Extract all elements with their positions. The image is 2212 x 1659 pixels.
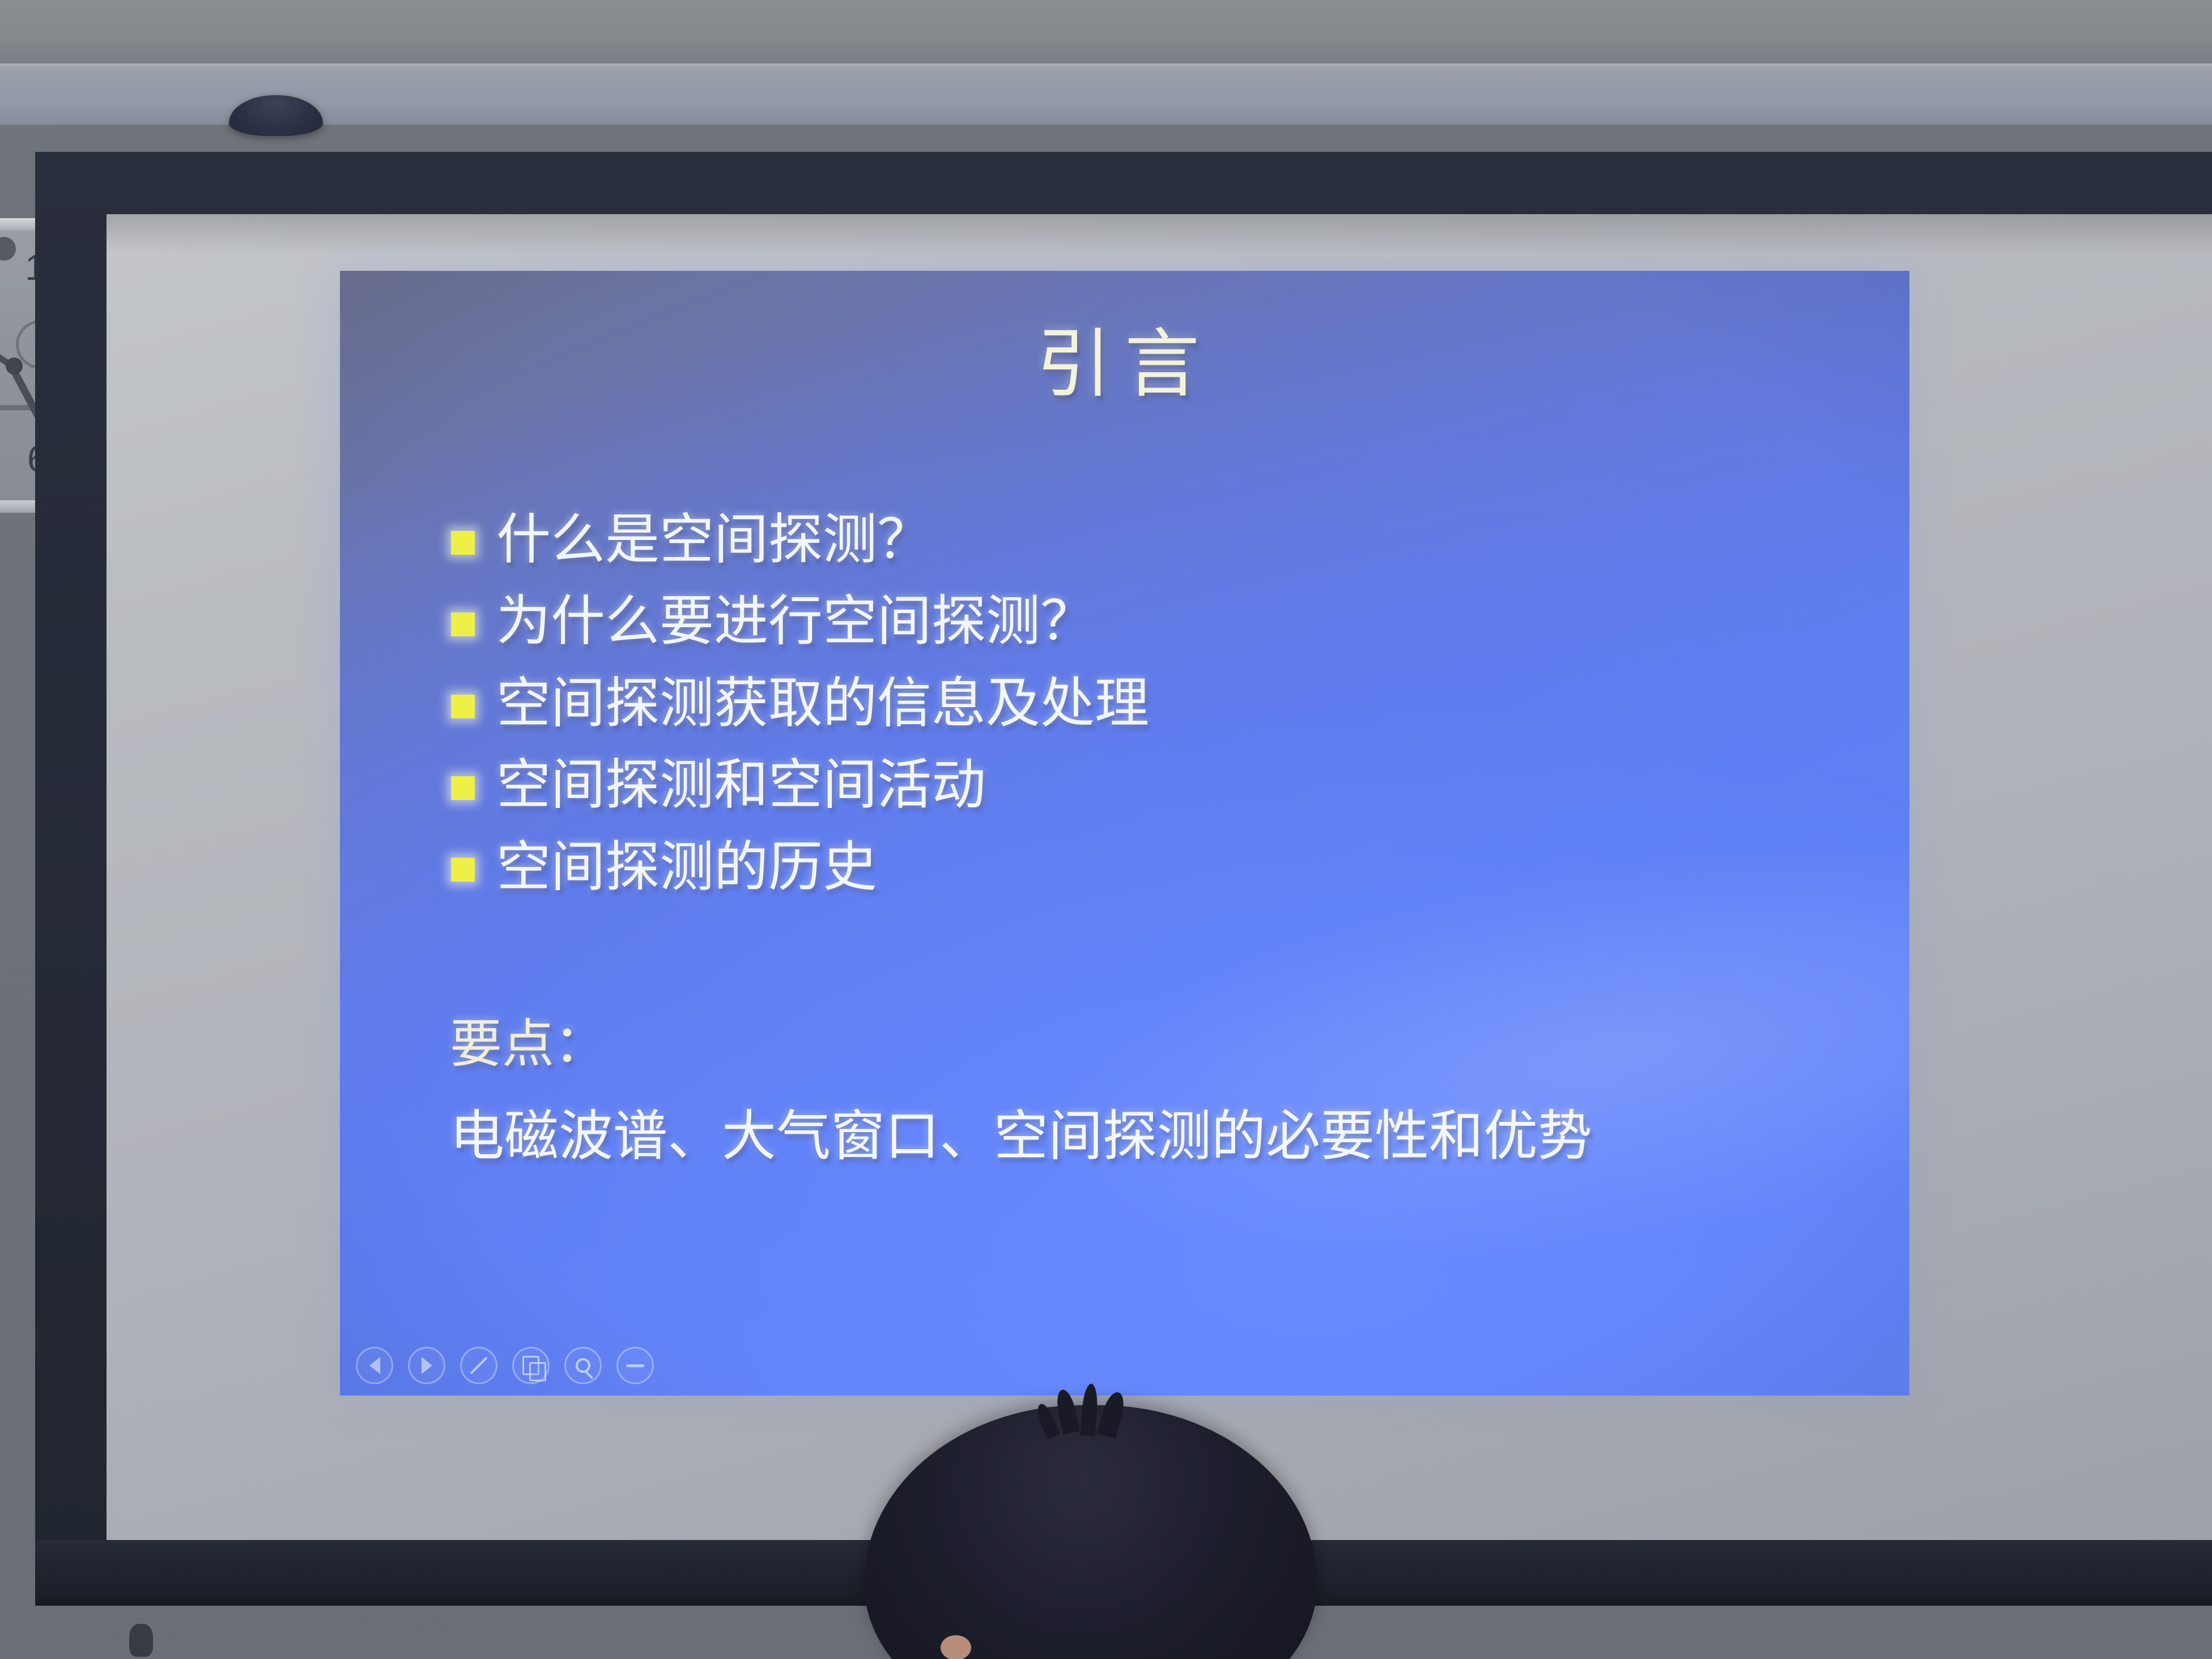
slide-title: 引言 <box>340 304 1909 412</box>
classroom-scene: 12 6 引言 什么是空间探测？ 为什么要进行空间探测？ 空间探测获取的信息及处… <box>0 0 2212 1659</box>
projected-slide: 引言 什么是空间探测？ 为什么要进行空间探测？ 空间探测获取的信息及处理 空间探… <box>340 271 1909 1396</box>
person-ear <box>941 1635 971 1659</box>
square-bullet-icon <box>451 858 475 882</box>
triangle-right-icon <box>422 1357 432 1374</box>
previous-slide-button[interactable] <box>356 1347 393 1384</box>
list-item: 空间探测和空间活动 <box>451 754 1845 816</box>
dash-icon <box>626 1364 644 1367</box>
floor-object <box>129 1624 153 1657</box>
bullet-label: 什么是空间探测？ <box>496 509 931 571</box>
all-slides-button[interactable] <box>512 1347 550 1384</box>
pen-tool-button[interactable] <box>460 1347 497 1384</box>
square-bullet-icon <box>451 695 475 718</box>
zoom-tool-button[interactable] <box>564 1347 602 1384</box>
presenter-toolbar[interactable] <box>356 1347 654 1384</box>
square-bullet-icon <box>451 776 475 800</box>
square-bullet-icon <box>451 612 475 636</box>
bullet-label: 空间探测的历史 <box>496 836 877 898</box>
list-item: 什么是空间探测？ <box>451 509 1845 571</box>
slide-bullet-list: 什么是空间探测？ 为什么要进行空间探测？ 空间探测获取的信息及处理 空间探测和空… <box>451 509 1845 918</box>
list-item: 为什么要进行空间探测？ <box>451 590 1845 652</box>
triangle-left-icon <box>369 1357 380 1374</box>
square-bullet-icon <box>451 531 475 555</box>
bullet-label: 空间探测获取的信息及处理 <box>496 673 1149 734</box>
next-slide-button[interactable] <box>408 1347 445 1384</box>
key-points-label: 要点： <box>450 1002 1878 1077</box>
upper-wall-band <box>0 68 2212 125</box>
magnifier-icon <box>576 1358 590 1373</box>
slides-icon <box>522 1356 539 1375</box>
whiteboard-top-shadow <box>107 214 2212 254</box>
list-item: 空间探测的历史 <box>451 836 1845 898</box>
key-points-block: 要点： 电磁波谱、大气窗口、空间探测的必要性和优势 <box>450 1002 1878 1169</box>
list-item: 空间探测获取的信息及处理 <box>451 673 1845 734</box>
more-options-button[interactable] <box>616 1347 654 1384</box>
clock-center-pin <box>6 358 23 375</box>
bullet-label: 空间探测和空间活动 <box>496 754 986 816</box>
bullet-label: 为什么要进行空间探测？ <box>496 590 1095 652</box>
ceiling-soffit <box>0 0 2212 67</box>
key-points-body: 电磁波谱、大气窗口、空间探测的必要性和优势 <box>450 1103 1855 1169</box>
pen-icon <box>470 1356 487 1374</box>
